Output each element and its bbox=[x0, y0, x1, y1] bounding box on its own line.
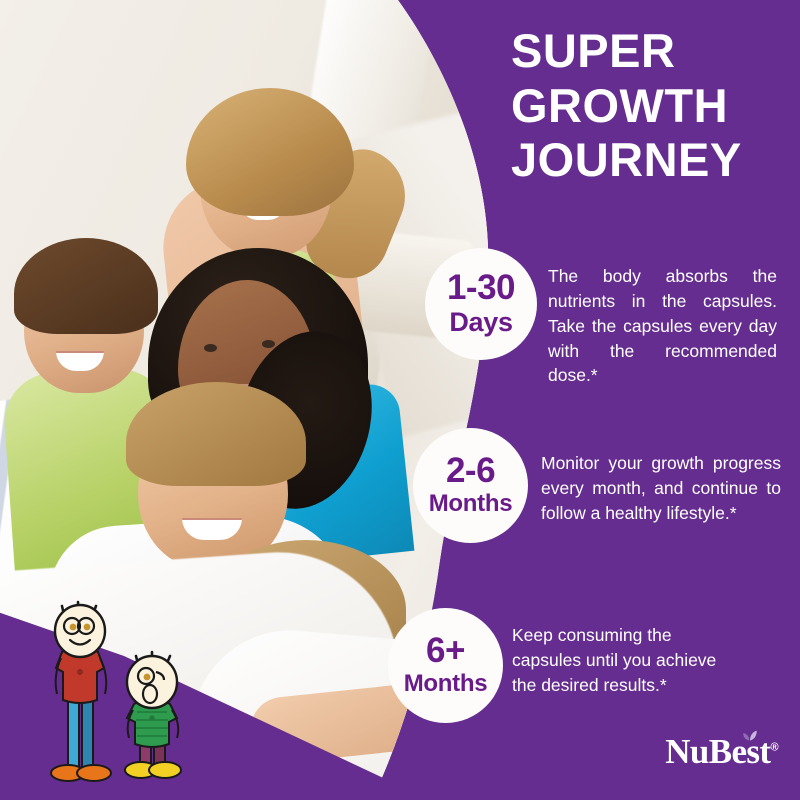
eye-right bbox=[262, 340, 275, 348]
step-3-badge-main: 6+ bbox=[426, 633, 465, 668]
page-title: SUPER GROWTH JOURNEY bbox=[511, 24, 791, 188]
smile bbox=[56, 351, 104, 371]
cartoon-tall-kid bbox=[51, 602, 111, 781]
step-3-badge[interactable]: 6+ Months bbox=[388, 608, 503, 723]
step-2-badge[interactable]: 2-6 Months bbox=[413, 428, 528, 543]
step-3-description: Keep consuming the capsules until you ac… bbox=[512, 623, 738, 698]
cartoon-mascots bbox=[36, 600, 206, 790]
cartoon-short-kid bbox=[125, 652, 181, 778]
leaf-icon bbox=[742, 730, 758, 742]
smile bbox=[182, 518, 242, 540]
step-2-badge-sub: Months bbox=[429, 491, 513, 517]
title-line-1: SUPER bbox=[511, 24, 791, 79]
step-2-badge-main: 2-6 bbox=[446, 453, 495, 488]
registered-mark: ® bbox=[770, 741, 778, 753]
step-1-badge[interactable]: 1-30 Days bbox=[425, 248, 537, 360]
step-2-description: Monitor your growth progress every month… bbox=[541, 451, 781, 526]
eye-left bbox=[204, 344, 217, 352]
step-1-description: The body absorbs the nutrients in the ca… bbox=[548, 264, 777, 388]
step-1-badge-main: 1-30 bbox=[447, 270, 515, 305]
poster-root: SUPER GROWTH JOURNEY 1-30 Days The body … bbox=[0, 0, 800, 800]
nubest-logo[interactable]: NuBest® bbox=[665, 732, 778, 772]
title-line-2: GROWTH bbox=[511, 79, 791, 134]
title-line-3: JOURNEY bbox=[511, 133, 791, 188]
step-1-badge-sub: Days bbox=[449, 308, 512, 338]
step-3-badge-sub: Months bbox=[404, 671, 488, 697]
